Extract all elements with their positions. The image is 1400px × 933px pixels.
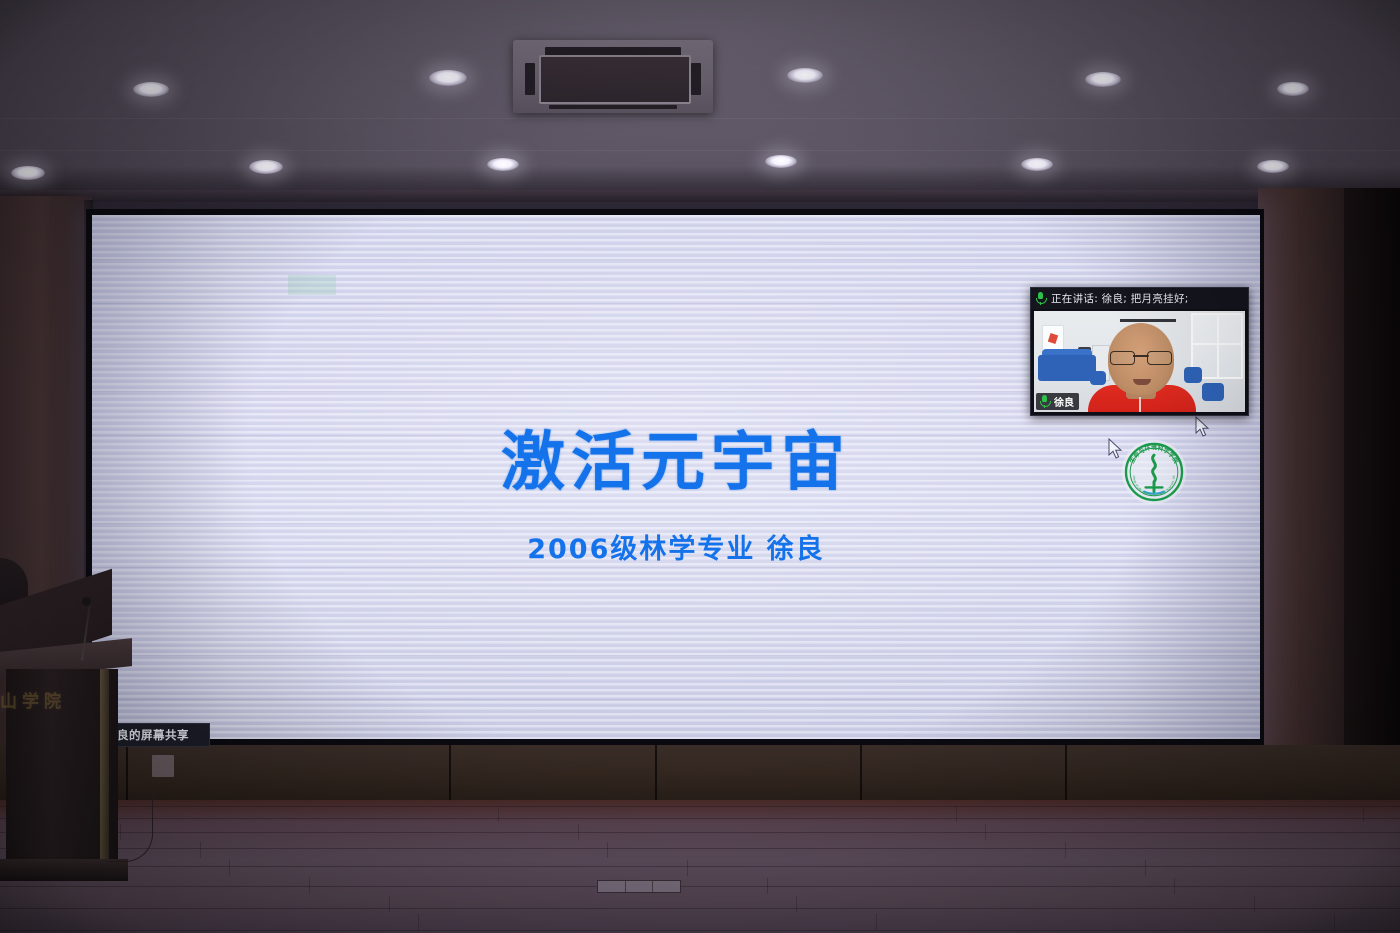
zoom-speaker-header: 正在讲话: 徐良; 把月亮挂好; [1031, 288, 1248, 309]
ceiling-downlight-7 [249, 160, 283, 174]
lectern: 山学院 [0, 645, 132, 885]
background-chair [1184, 367, 1202, 383]
zoom-participant-name: 徐良 [1054, 394, 1074, 409]
floor-plank-joint [200, 842, 201, 858]
floor-plank-joint [309, 878, 310, 894]
college-emblem-icon: 生命与环境科学学院 College of Life and Environmen… [1119, 437, 1189, 507]
floor-outlet-box[interactable] [597, 880, 681, 893]
microphone-icon [1039, 395, 1050, 408]
led-tile-seam [92, 523, 1260, 524]
ceiling-downlight-9 [765, 155, 797, 168]
background-wall-trim [1120, 319, 1176, 322]
floor-plank-joint [1254, 896, 1255, 912]
background-chair [1090, 371, 1106, 385]
microphone-icon [1035, 292, 1046, 305]
lecture-hall-scene: 激活元宇宙 2006级林学专业 徐良 生命与环境科学学院 College of … [0, 0, 1400, 933]
floor-plank-joint [418, 914, 419, 930]
ceiling-downlight-5 [1277, 82, 1309, 96]
floor-plank-joint [767, 878, 768, 894]
ceiling-downlight-10 [1021, 158, 1053, 171]
led-tile-seam [92, 699, 1260, 700]
ceiling-downlight-2 [429, 70, 467, 86]
floor-plank-line [0, 832, 1400, 833]
led-tile-seam [92, 567, 1260, 568]
floor-plank-joint [1145, 860, 1146, 876]
mouse-cursor-primary [1108, 438, 1124, 460]
ceiling-downlight-1 [133, 82, 169, 97]
floor-plank-line [0, 886, 1400, 887]
floor [0, 800, 1400, 933]
floor-plank-joint [578, 824, 579, 840]
wall-right [1258, 188, 1346, 828]
wall-ceiling-trim [0, 190, 1400, 202]
floor-plank-joint [687, 860, 688, 876]
lectern-engraved-text: 山学院 [0, 687, 70, 712]
ceiling-downlight-6 [11, 166, 45, 180]
floor-plank-joint [607, 842, 608, 858]
zoom-participant-badge: 徐良 [1036, 393, 1079, 410]
slide-title: 激活元宇宙 [92, 411, 1260, 503]
lectern-base [0, 859, 128, 881]
floor-plank-joint [389, 896, 390, 912]
floor-plank-joint [956, 806, 957, 822]
floor-plank-line [0, 818, 1400, 819]
background-chair [1202, 383, 1224, 401]
slide-subtitle: 2006级林学专业 徐良 [92, 527, 1260, 566]
floor-plank-joint [1174, 878, 1175, 894]
floor-plank-line [0, 930, 1400, 931]
lectern-cable [106, 795, 153, 862]
floor-plank-joint [796, 896, 797, 912]
speaker-jacket-zip [1139, 397, 1141, 412]
zoom-video-feed[interactable]: 徐良 [1034, 311, 1245, 412]
lectern-microphone-icon [82, 597, 91, 606]
ceiling-ac-cassette-icon [513, 40, 713, 113]
led-tile-seam [92, 611, 1260, 612]
floor-plank-joint [985, 824, 986, 840]
ceiling-downlight-3 [787, 68, 823, 83]
background-sofa [1038, 355, 1096, 381]
slide-artifact-block [288, 275, 336, 295]
floor-plank-line [0, 908, 1400, 909]
mouse-cursor-secondary [1195, 416, 1211, 438]
floor-plank-joint [1065, 842, 1066, 858]
floor-plank-line [0, 848, 1400, 849]
floor-plank-joint [498, 806, 499, 822]
ceiling-downlight-4 [1085, 72, 1121, 87]
wall-right-shadow [1344, 188, 1400, 838]
speaker-glasses [1110, 351, 1172, 363]
led-tile-seam [92, 259, 1260, 260]
zoom-speaker-header-text: 正在讲话: 徐良; 把月亮挂好; [1051, 291, 1189, 306]
ceiling-downlight-11 [1257, 160, 1289, 173]
stage-skirt-plate [152, 755, 174, 777]
floor-plank-joint [1363, 806, 1364, 822]
floor-plank-joint [229, 860, 230, 876]
floor-plank-line [0, 866, 1400, 867]
zoom-active-speaker-panel[interactable]: 正在讲话: 徐良; 把月亮挂好; [1030, 287, 1249, 416]
floor-plank-joint [876, 914, 877, 930]
stage-skirt [0, 745, 1400, 807]
led-tile-seam [92, 655, 1260, 656]
ceiling-downlight-8 [487, 158, 519, 171]
floor-plank-joint [1334, 914, 1335, 930]
floor-plank-line [0, 806, 1400, 807]
